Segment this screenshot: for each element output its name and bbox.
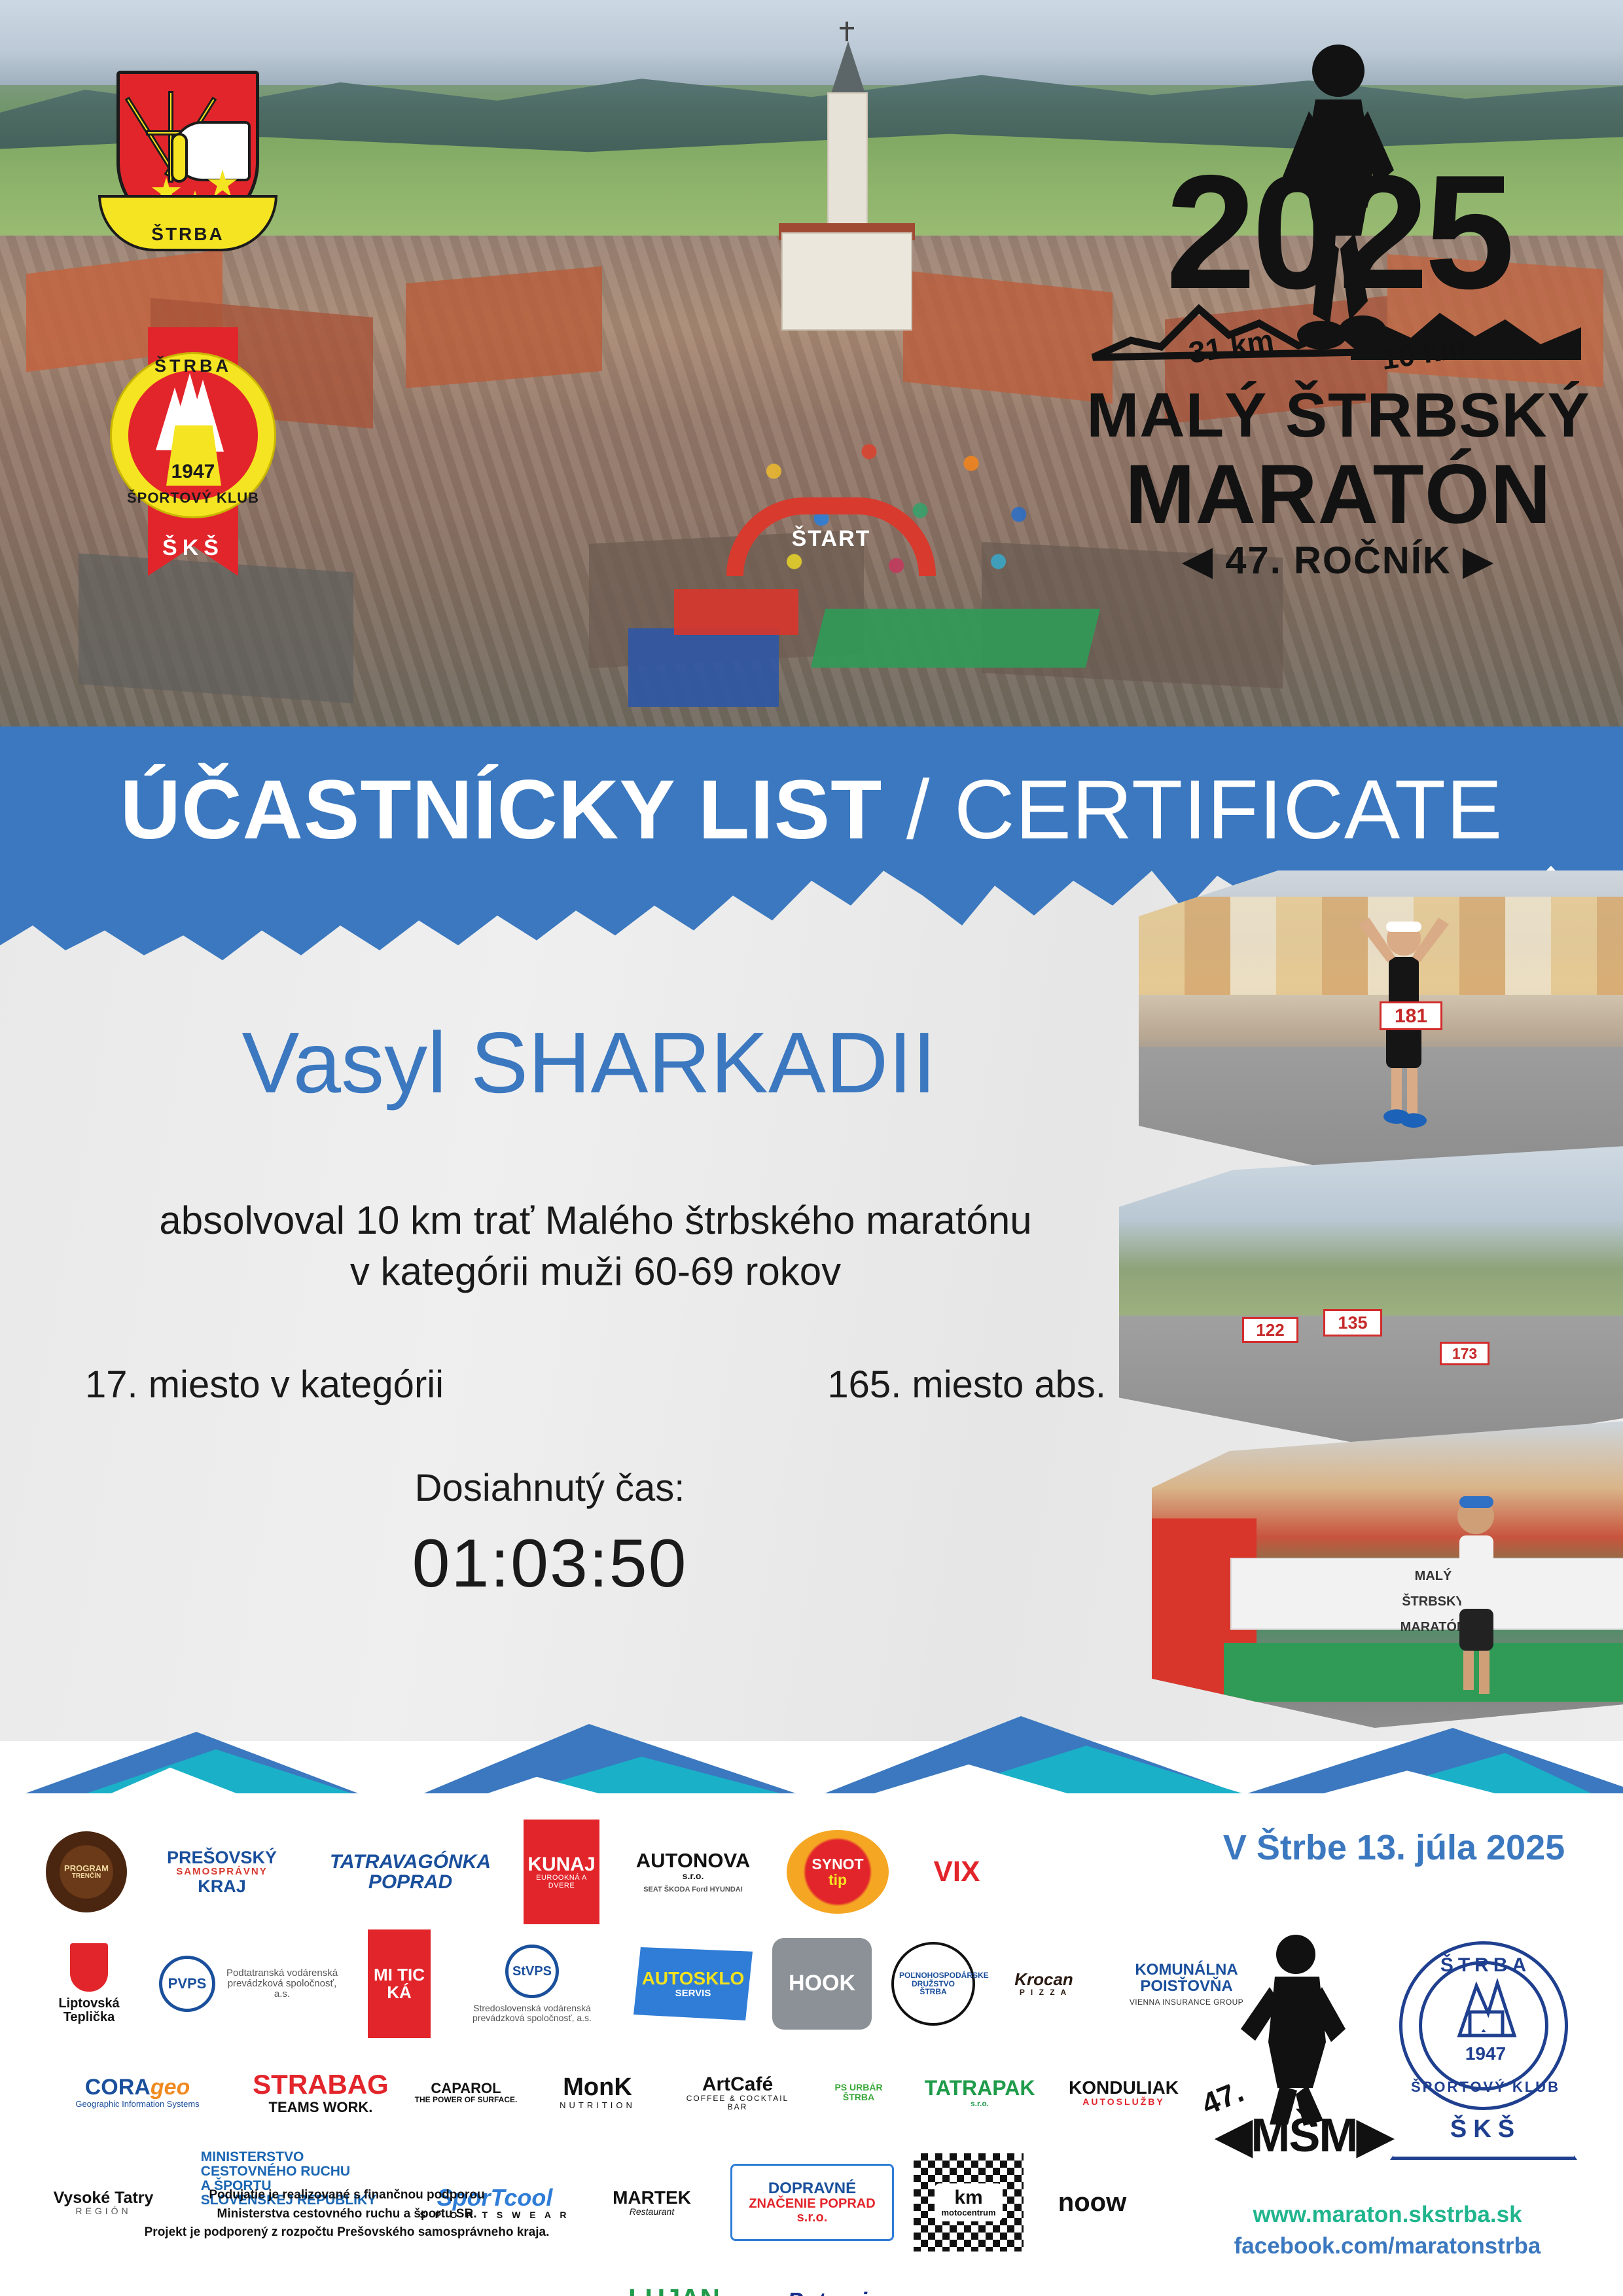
sponsor-sub: Teplička — [63, 2011, 115, 2024]
description-line-2: v kategórii muži 60-69 rokov — [79, 1246, 1113, 1297]
roof — [406, 266, 602, 388]
sponsor-ps-urbar-strba: PS URBÁR ŠTRBA — [819, 2043, 898, 2142]
edition-label: 47. ROČNÍK — [1225, 539, 1452, 582]
sponsor-name: TATRAVAGÓNKA — [330, 1852, 491, 1873]
sponsor-sub: s.r.o. — [683, 1871, 704, 1881]
sponsor-name: SYNOT — [811, 1856, 863, 1872]
sponsor-name: KONDULIAK — [1069, 2078, 1179, 2097]
sponsor-name: HOOK — [789, 1972, 855, 1996]
title-regular-part: / CERTIFICATE — [882, 763, 1503, 857]
fineprint-line-1: Podujatie je realizované s finančnou pod… — [72, 2186, 622, 2205]
sponsor-name: STRABAG — [253, 2070, 389, 2099]
bib-number: 122 — [1242, 1317, 1298, 1343]
bib-number: 173 — [1440, 1342, 1489, 1365]
sponsor-beh-sk: beh.sk Web, ktorý vás rozhýbe — [425, 2270, 589, 2296]
cuff — [171, 133, 188, 183]
fineprint-line-3: Projekt je podporený z rozpočtu Prešovsk… — [72, 2223, 622, 2242]
sponsor-sub: CESTOVNÉHO RUCHU — [201, 2164, 350, 2179]
sponsor-potraviny-serfel: Potraviny ŠERFEL — [759, 2267, 923, 2296]
sponsor-km-motocentrum: km motocentrum — [914, 2153, 1024, 2251]
sponsor-dopravne-znacenie: DOPRAVNÉ ZNAČENIE POPRAD s.r.o. — [730, 2164, 894, 2241]
arrow-left-icon: ◀ — [1183, 538, 1214, 583]
fineprint: Podujatie je realizované s finančnou pod… — [72, 2186, 622, 2242]
sks-top-label: ŠTRBA — [1381, 1954, 1590, 1977]
event-tent — [628, 628, 779, 707]
certificate-description: absolvoval 10 km trať Malého štrbského m… — [79, 1195, 1113, 1297]
sponsor-pvps: PVPS Podtatranská vodárenská prevádzková… — [152, 1941, 348, 2026]
website-link[interactable]: www.maraton.skstrba.sk — [1158, 2202, 1616, 2228]
sponsor-name: VIX — [934, 1857, 980, 1887]
photo-finish-female-runner: 181 — [1139, 870, 1623, 1198]
sponsor-name: KUNAJ — [527, 1854, 595, 1875]
sponsor-tatrapak: TATRAPAK s.r.o. — [918, 2050, 1042, 2135]
sponsor-name: MINISTERSTVO — [201, 2150, 304, 2164]
sponsor-sub: Restaurant — [630, 2207, 674, 2217]
sponsor-name: MARTEK — [613, 2188, 691, 2207]
sponsor-name: PS URBÁR ŠTRBA — [826, 2083, 891, 2102]
sponsor-name: LUJAN — [628, 2284, 720, 2296]
fineprint-line-2: Ministerstva cestovného ruchu a športu S… — [72, 2205, 622, 2224]
sponsor-pd-strba: POĽNOHOSPODÁRSKE DRUŽSTVO ŠTRBA — [891, 1942, 975, 2026]
sponsor-sub: P I Z Z A — [1020, 1988, 1068, 1997]
sponsor-sub: NUTRITION — [560, 2101, 635, 2110]
sponsor-name: MI TIC KÁ — [368, 1966, 431, 2002]
certificate-page: ŠTART ŠTRBA ŠTRBA 1947 ŠPORTOV — [0, 0, 1623, 2296]
sks-abbrev-label: ŠKŠ — [1381, 2115, 1590, 2144]
sponsor-name: CORAgeo — [85, 2076, 190, 2100]
shield-icon — [70, 1943, 108, 1992]
sponsor-sub: TEAMS WORK. — [269, 2100, 373, 2115]
sponsor-sub: AUTOSLUŽBY — [1082, 2097, 1164, 2107]
sponsor-name: Potraviny — [787, 2289, 895, 2296]
title-text: ÚČASTNÍCKY LIST / CERTIFICATE — [0, 762, 1623, 858]
event-edition: ◀47. ROČNÍK▶ — [1073, 538, 1603, 583]
sponsor-strabag: STRABAG TEAMS WORK. — [249, 2050, 393, 2135]
sponsor-sub: COFFEE & COCKTAIL BAR — [675, 2094, 800, 2111]
sponsor-row: pretekaj.sk beh.sk Web, ktorý vás rozhýb… — [236, 2263, 1185, 2296]
sponsor-name: km — [954, 2187, 982, 2208]
sponsor-name: StVPS — [512, 1965, 552, 1979]
sponsor-kunaj: KUNAJ EUROOKNÁ A DVERE — [524, 1820, 599, 1924]
sponsor-sub: THE POWER OF SURFACE. — [415, 2096, 518, 2104]
sponsor-name: Liptovská — [58, 1997, 119, 2011]
sponsor-krocan-pizza: Krocan P I Z Z A — [995, 1938, 1093, 2030]
sponsor-sub: SAMOSPRÁVNY — [176, 1867, 268, 1877]
sponsor-row: Liptovská Teplička PVPS Podtatranská vod… — [46, 1929, 1185, 2038]
sponsor-vix: VIX — [908, 1823, 1005, 1921]
strba-coat-of-arms: ŠTRBA — [116, 71, 259, 254]
sponsor-sub: POPRAD — [368, 1872, 452, 1893]
crest-ribbon: ŠTRBA — [98, 195, 277, 251]
photo-collage: 181 122 135 173 MALÝ ŠTRBSKÝ MARATÓN — [1113, 870, 1623, 1741]
sponsor-row: PROGRAM TRENČÍN PREŠOVSKÝ SAMOSPRÁVNY KR… — [46, 1820, 1185, 1924]
sponsor-sub: SERVIS — [675, 1988, 711, 1999]
sponsor-liptovska-teplicka: Liptovská Teplička — [46, 1935, 132, 2033]
sponsor-caparol: CAPAROL THE POWER OF SURFACE. — [412, 2043, 520, 2142]
footer-right-column: V Štrbe 13. júla 2025 47. ◀MŠM▶ — [1185, 1806, 1603, 2265]
sponsor-name: AUTOSKLO — [642, 1969, 745, 1988]
sponsor-miticka: MI TIC KÁ — [368, 1929, 431, 2038]
cross-icon — [846, 22, 848, 41]
msm-logo: 47. ◀MŠM▶ — [1198, 1931, 1381, 2166]
place-absolute: 165. miesto abs. — [827, 1363, 1106, 1407]
event-title-line2: MARATÓN — [1073, 446, 1603, 543]
msm-abbrev: ◀MŠM▶ — [1216, 2108, 1392, 2162]
sponsor-row: CORAgeo Geographic Information Systems S… — [46, 2043, 1185, 2142]
sponsor-hook: HOOK — [772, 1938, 872, 2030]
sks-bottom-label: ŠPORTOVÝ KLUB — [1381, 2079, 1590, 2096]
sponsor-name: noow — [1058, 2189, 1126, 2216]
time-value: 01:03:50 — [85, 1525, 1014, 1603]
sponsor-extra: Geographic Information Systems — [75, 2100, 199, 2109]
event-logo: 2025 31 km 10 km MALÝ ŠTRBSKÝ MARATÓN ◀4… — [1073, 33, 1603, 602]
sponsor-stvps: StVPS Stredoslovenská vodárenská prevádz… — [450, 1935, 614, 2033]
green-carpet — [811, 609, 1100, 668]
sponsor-sub: s.r.o. — [971, 2100, 989, 2108]
sponsor-pretekaj-sk: pretekaj.sk — [236, 2270, 406, 2296]
spire — [830, 41, 866, 98]
sponsor-sub: Podtatranská vodárenská prevádzková spol… — [223, 1968, 341, 1999]
mountain-peaks-icon — [1450, 1973, 1522, 2045]
sponsor-synottip: SYNOT tip — [787, 1830, 889, 1914]
sponsor-sub: motocentrum — [941, 2208, 995, 2217]
mountain-range-icon — [1089, 289, 1586, 374]
sponsor-sub: TRENČÍN — [72, 1873, 101, 1880]
time-label: Dosiahnutý čas: — [85, 1466, 1014, 1510]
sponsor-noow: noow — [1043, 2160, 1141, 2245]
sponsor-name: DOPRAVNÉ — [768, 2180, 856, 2197]
church-icon — [804, 36, 889, 324]
sks-bottom-label: ŠPORTOVÝ KLUB — [98, 490, 288, 507]
sponsor-name: PVPS — [168, 1976, 207, 1991]
footer: PROGRAM TRENČÍN PREŠOVSKÝ SAMOSPRÁVNY KR… — [0, 1793, 1623, 2296]
sponsor-name: AUTONOVA — [636, 1850, 751, 1872]
sponsor-name: Krocan — [1014, 1971, 1073, 1988]
event-date: V Štrbe 13. júla 2025 — [1185, 1827, 1603, 1868]
sponsor-lujan-plus: LUJAN Plus s.r.o. — [609, 2263, 740, 2296]
sponsor-corageo: CORAgeo Geographic Information Systems — [46, 2050, 229, 2135]
crest-ribbon-label: ŠTRBA — [151, 224, 224, 249]
sks-footer-logo: ŠTRBA 1947 ŠPORTOVÝ KLUB ŠKŠ — [1381, 1924, 1590, 2173]
start-banner-label: ŠTART — [792, 526, 871, 552]
sponsor-sub: tip — [829, 1872, 847, 1888]
nave — [781, 232, 912, 331]
sponsor-name: CAPAROL — [431, 2081, 501, 2096]
sponsor-autonova: AUTONOVA s.r.o. SEAT ŠKODA Ford HYUNDAI — [619, 1823, 767, 1921]
sponsor-monk-nutrition: MonK NUTRITION — [539, 2050, 656, 2135]
bib-number: 135 — [1323, 1309, 1382, 1336]
event-title-line1: MALÝ ŠTRBSKÝ — [1073, 380, 1603, 452]
sponsor-extra: SEAT ŠKODA Ford HYUNDAI — [643, 1886, 743, 1894]
photo-runners-on-hill: 122 135 173 — [1119, 1145, 1623, 1453]
sponsor-name: PREŠOVSKÝ — [167, 1848, 277, 1867]
arrow-right-icon: ▶ — [1463, 538, 1494, 583]
pvps-badge-icon: PVPS — [159, 1956, 215, 2012]
participant-name: Vasyl SHARKADII — [79, 1013, 1099, 1112]
sponsor-extra: KRAJ — [198, 1877, 246, 1895]
sks-year-label: 1947 — [98, 461, 288, 483]
sponsor-name: ArtCafé — [702, 2074, 773, 2095]
sks-abbrev-label: ŠKŠ — [98, 535, 288, 561]
sponsor-name: TATRAPAK — [925, 2077, 1035, 2100]
stvps-badge-icon: StVPS — [505, 1945, 559, 1998]
sponsor-name: PROGRAM — [64, 1864, 109, 1873]
facebook-link[interactable]: facebook.com/maratonstrba — [1158, 2233, 1616, 2259]
sponsor-name: MonK — [563, 2075, 632, 2101]
placement-row: 17. miesto v kategórii 165. miesto abs. — [85, 1363, 1106, 1407]
arm-icon — [172, 121, 251, 181]
sponsor-sub: ZNAČENIE POPRAD s.r.o. — [732, 2197, 892, 2225]
sponsor-artcafe: ArtCafé COFFEE & COCKTAIL BAR — [675, 2043, 800, 2142]
sks-club-logo: ŠTRBA 1947 ŠPORTOVÝ KLUB ŠKŠ — [98, 327, 288, 576]
sponsor-logos: PROGRAM TRENČÍN PREŠOVSKÝ SAMOSPRÁVNY KR… — [46, 1820, 1185, 2238]
sponsor-program-trencin: PROGRAM TRENČÍN — [46, 1831, 127, 1912]
sponsor-presovsky-kraj: PREŠOVSKÝ SAMOSPRÁVNY KRAJ — [147, 1833, 297, 1910]
sponsor-sub: Stredoslovenská vodárenská prevádzková s… — [460, 2003, 604, 2022]
sponsor-autosklo-servis: AUTOSKLO SERVIS — [633, 1947, 753, 2020]
event-tent — [674, 589, 798, 635]
bib-number: 181 — [1380, 1001, 1442, 1030]
description-line-1: absolvoval 10 km trať Malého štrbského m… — [79, 1195, 1113, 1246]
sks-top-label: ŠTRBA — [98, 356, 288, 376]
sponsor-name: POĽNOHOSPODÁRSKE DRUŽSTVO ŠTRBA — [899, 1971, 967, 1996]
sponsor-konduliak: KONDULIAK AUTOSLUŽBY — [1061, 2054, 1186, 2131]
place-in-category: 17. miesto v kategórii — [85, 1363, 444, 1407]
sponsor-sub: EUROOKNÁ A DVERE — [524, 1874, 599, 1890]
sponsor-tatravagonka: TATRAVAGÓNKA POPRAD — [317, 1833, 504, 1910]
sks-year-label: 1947 — [1381, 2043, 1590, 2064]
title-bold-part: ÚČASTNÍCKY LIST — [120, 763, 883, 857]
